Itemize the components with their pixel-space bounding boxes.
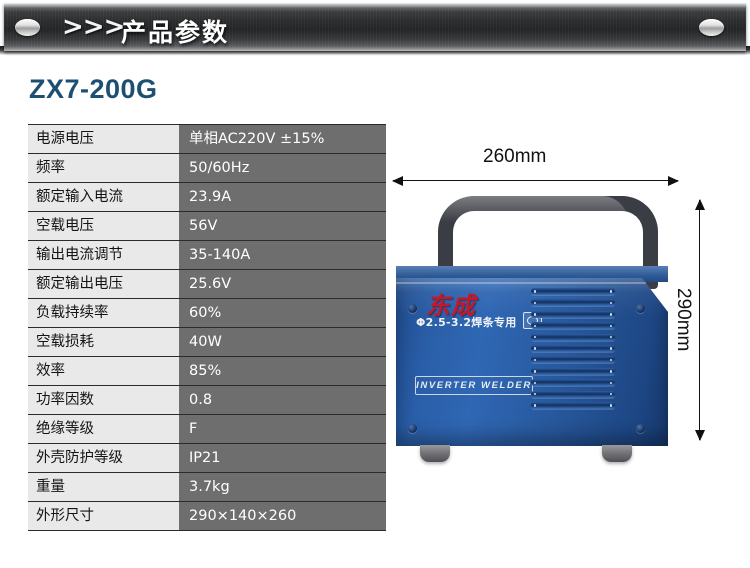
height-dimension-label: 290mm: [672, 288, 694, 351]
banner-title: 产品参数: [121, 13, 229, 49]
spec-label: 绝缘等级: [28, 415, 179, 444]
chrome-dot-icon-right: [699, 19, 724, 36]
spec-value: 单相AC220V ±15%: [179, 125, 386, 154]
vent-slat: [531, 311, 615, 318]
spec-value: 50/60Hz: [179, 154, 386, 183]
rubber-foot-icon: [420, 445, 450, 462]
spec-label: 空载损耗: [28, 328, 179, 357]
table-row: 输出电流调节 35-140A: [28, 241, 386, 270]
spec-value: IP21: [179, 444, 386, 473]
vent-slat: [531, 356, 615, 363]
vent-slat: [531, 322, 615, 329]
vent-slat: [531, 391, 615, 398]
spec-value: 56V: [179, 212, 386, 241]
welder-body-ridge: [396, 282, 646, 284]
table-row: 额定输入电流 23.9A: [28, 183, 386, 212]
table-row: 外壳防护等级 IP21: [28, 444, 386, 473]
vent-slat: [531, 288, 615, 295]
table-row: 电源电压 单相AC220V ±15%: [28, 125, 386, 154]
spec-value: 23.9A: [179, 183, 386, 212]
vent-slat: [531, 299, 615, 306]
screw-icon: [636, 424, 645, 433]
table-row: 额定输出电压 25.6V: [28, 270, 386, 299]
height-dimension-arrow: [699, 200, 700, 440]
electrode-spec-label: Φ2.5-3.2焊条专用: [416, 314, 517, 330]
product-model-title: ZX7-200G: [29, 74, 158, 105]
louver-vent-icon: [531, 288, 615, 414]
product-photo: 260mm 290mm 东成 Φ2.5-3.2焊条专用 INVERTER WEL…: [378, 118, 750, 518]
spec-value: 60%: [179, 299, 386, 328]
vent-slat: [531, 402, 615, 409]
table-row: 空载损耗 40W: [28, 328, 386, 357]
table-row: 效率 85%: [28, 357, 386, 386]
spec-value: 0.8: [179, 386, 386, 415]
rubber-foot-icon: [602, 445, 632, 462]
spec-label: 效率: [28, 357, 179, 386]
width-dimension-label: 260mm: [483, 146, 546, 168]
table-row: 空载电压 56V: [28, 212, 386, 241]
vent-slat: [531, 368, 615, 375]
spec-label: 频率: [28, 154, 179, 183]
spec-label: 外形尺寸: [28, 502, 179, 531]
spec-value: 40W: [179, 328, 386, 357]
vent-slat: [531, 334, 615, 341]
banner-plate: >>> 产品参数: [4, 3, 746, 51]
spec-label: 输出电流调节: [28, 241, 179, 270]
width-dimension-arrow: [393, 180, 678, 181]
spec-value: 35-140A: [179, 241, 386, 270]
screw-icon: [408, 424, 417, 433]
table-row: 外形尺寸 290×140×260: [28, 502, 386, 531]
spec-label: 重量: [28, 473, 179, 502]
vent-slat: [531, 379, 615, 386]
table-row: 功率因数 0.8: [28, 386, 386, 415]
spec-label: 外壳防护等级: [28, 444, 179, 473]
spec-value: 25.6V: [179, 270, 386, 299]
table-row: 负载持续率 60%: [28, 299, 386, 328]
spec-value: 85%: [179, 357, 386, 386]
table-row: 频率 50/60Hz: [28, 154, 386, 183]
spec-label: 负载持续率: [28, 299, 179, 328]
spec-label: 额定输出电压: [28, 270, 179, 299]
vent-slat: [531, 345, 615, 352]
spec-label: 功率因数: [28, 386, 179, 415]
chrome-dot-icon-left: [15, 19, 40, 36]
inverter-welder-label: INVERTER WELDER: [415, 376, 533, 395]
screw-icon: [636, 304, 645, 313]
table-row: 绝缘等级 F: [28, 415, 386, 444]
table-row: 重量 3.7kg: [28, 473, 386, 502]
spec-value: 290×140×260: [179, 502, 386, 531]
spec-label: 额定输入电流: [28, 183, 179, 212]
page-header-banner: >>> 产品参数: [0, 0, 750, 58]
spec-value: F: [179, 415, 386, 444]
spec-label: 电源电压: [28, 125, 179, 154]
chevron-right-icon: >>>: [62, 12, 124, 42]
specification-table: 电源电压 单相AC220V ±15% 频率 50/60Hz 额定输入电流 23.…: [28, 124, 386, 531]
spec-value: 3.7kg: [179, 473, 386, 502]
screw-icon: [408, 304, 417, 313]
specification-table-body: 电源电压 单相AC220V ±15% 频率 50/60Hz 额定输入电流 23.…: [28, 125, 386, 531]
spec-label: 空载电压: [28, 212, 179, 241]
